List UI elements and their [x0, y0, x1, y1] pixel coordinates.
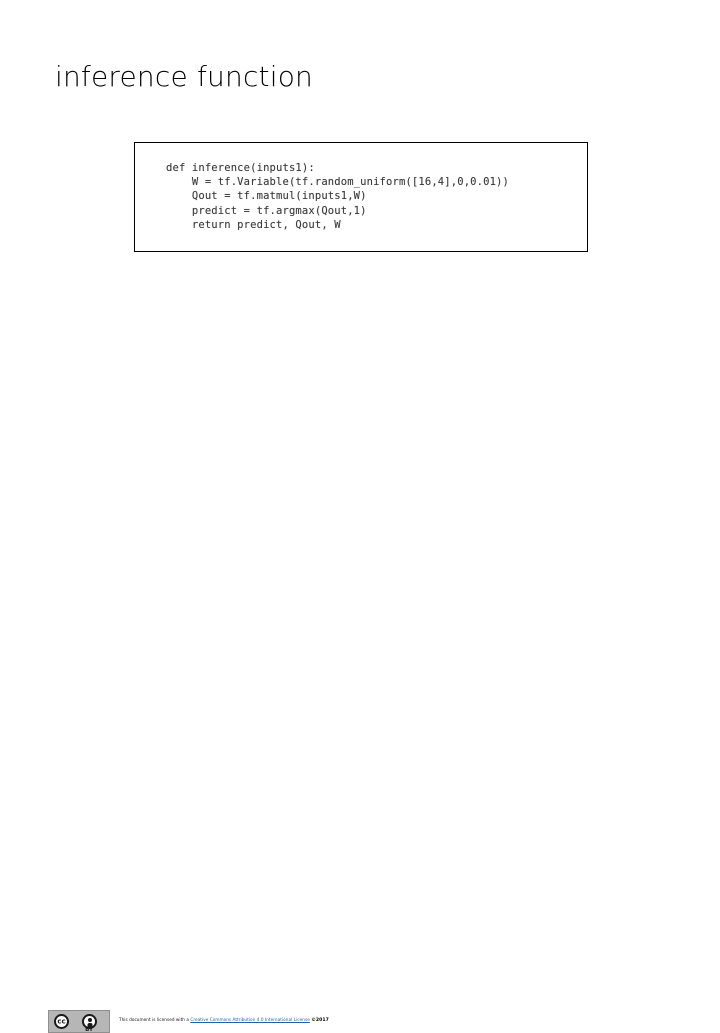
code-block: def inference(inputs1): W = tf.Variable(…	[134, 142, 588, 252]
cc-logo-icon: cc	[54, 1014, 69, 1029]
license-statement: This document is licensed with a Creativ…	[119, 1016, 619, 1024]
license-prefix-text: This document is licensed with a	[119, 1017, 190, 1022]
slide-footer: cc BY This document is licensed with a C…	[0, 500, 720, 540]
license-link[interactable]: Creative Commons Attribution 4.0 Interna…	[190, 1017, 309, 1022]
creative-commons-badge-icon: cc BY	[48, 1010, 110, 1033]
copyright-notice: ©2017	[311, 1018, 329, 1023]
page-title: inference function	[55, 60, 655, 94]
code-line: predict = tf.argmax(Qout,1)	[166, 204, 583, 218]
by-label: BY	[75, 1027, 103, 1033]
cc-glyph-label: cc	[56, 1018, 67, 1025]
code-block-content: def inference(inputs1): W = tf.Variable(…	[166, 161, 583, 232]
code-line: return predict, Qout, W	[166, 218, 583, 232]
code-line: Qout = tf.matmul(inputs1,W)	[166, 189, 583, 203]
slide-canvas: inference function def inference(inputs1…	[0, 0, 720, 540]
code-line: W = tf.Variable(tf.random_uniform([16,4]…	[166, 175, 583, 189]
code-line: def inference(inputs1):	[166, 161, 583, 175]
person-head-shape	[88, 1018, 92, 1022]
